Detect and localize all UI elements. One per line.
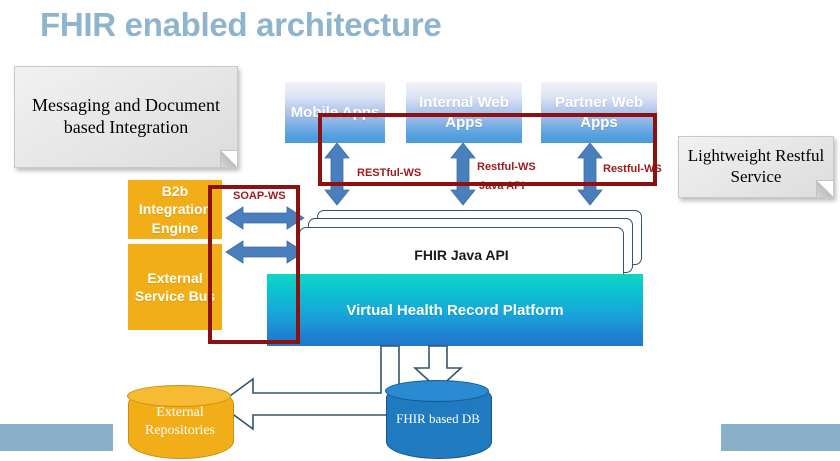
callout-messaging-integration: Messaging and Document based Integration (14, 66, 238, 168)
folded-corner-icon (220, 150, 237, 167)
highlight-rect-restful-services (318, 113, 657, 186)
callout-lightweight-restful-service: Lightweight Restful Service (678, 136, 834, 198)
cylinder-label: External Repositories (128, 404, 232, 439)
decorative-bar-left (0, 424, 113, 451)
page-title: FHIR enabled architecture (40, 6, 441, 44)
platform-bar-virtual-health-record: Virtual Health Record Platform (267, 274, 643, 346)
cylinder-fhir-based-db: FHIR based DB (386, 381, 490, 457)
cylinder-external-repositories: External Repositories (128, 386, 232, 457)
api-card-label: FHIR Java API (414, 247, 508, 263)
callout-text: Lightweight Restful Service (679, 146, 833, 187)
platform-label: Virtual Health Record Platform (346, 302, 563, 319)
slide-canvas: FHIR enabled architecture Mobile Apps In… (0, 0, 840, 461)
highlight-rect-soap-integration (208, 185, 300, 344)
decorative-bar-right (721, 424, 840, 451)
cylinder-top-ellipse (385, 380, 489, 402)
folded-corner-icon (816, 180, 833, 197)
cylinder-label: FHIR based DB (396, 411, 480, 427)
callout-text: Messaging and Document based Integration (15, 95, 237, 139)
